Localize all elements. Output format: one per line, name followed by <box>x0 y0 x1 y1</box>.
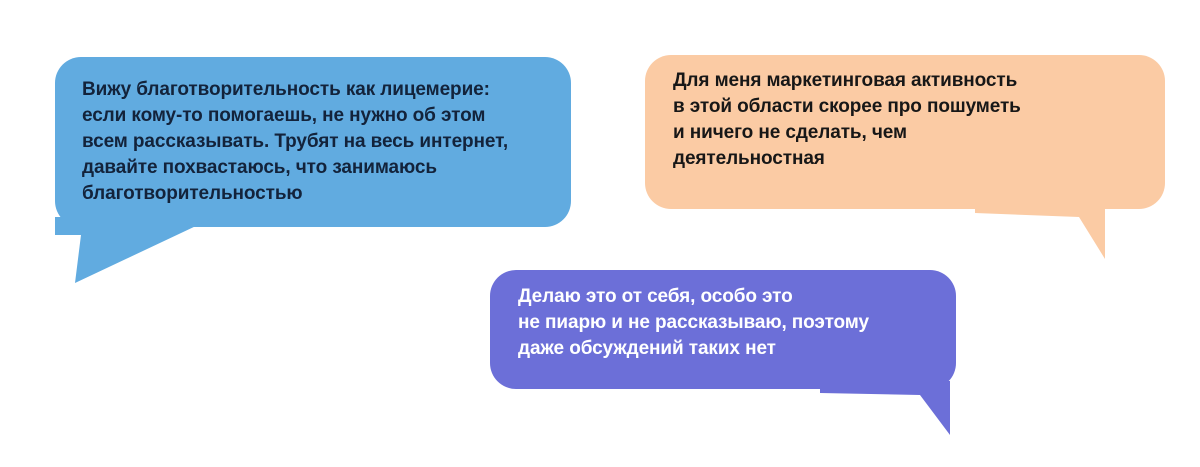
quote-bubble-marketing-tail-icon <box>975 201 1105 263</box>
quote-bubble-marketing-text: Для меня маркетинговая активность в этой… <box>673 68 1021 172</box>
quote-bubble-hypocrisy-tail-icon <box>55 217 215 287</box>
quote-bubble-personal-text: Делаю это от себя, особо это не пиарю и … <box>518 284 869 362</box>
quote-bubble-personal-body: Делаю это от себя, особо это не пиарю и … <box>490 270 956 389</box>
quote-bubble-personal: Делаю это от себя, особо это не пиарю и … <box>490 270 956 427</box>
quote-bubble-marketing: Для меня маркетинговая активность в этой… <box>645 55 1165 251</box>
quote-bubble-personal-tail-icon <box>820 381 950 437</box>
quote-bubble-hypocrisy: Вижу благотворительность как лицемерие: … <box>55 57 571 282</box>
quote-bubble-marketing-body: Для меня маркетинговая активность в этой… <box>645 55 1165 209</box>
quote-bubble-hypocrisy-body: Вижу благотворительность как лицемерие: … <box>55 57 571 227</box>
bubble-canvas: Вижу благотворительность как лицемерие: … <box>0 0 1200 467</box>
quote-bubble-hypocrisy-text: Вижу благотворительность как лицемерие: … <box>82 77 508 207</box>
